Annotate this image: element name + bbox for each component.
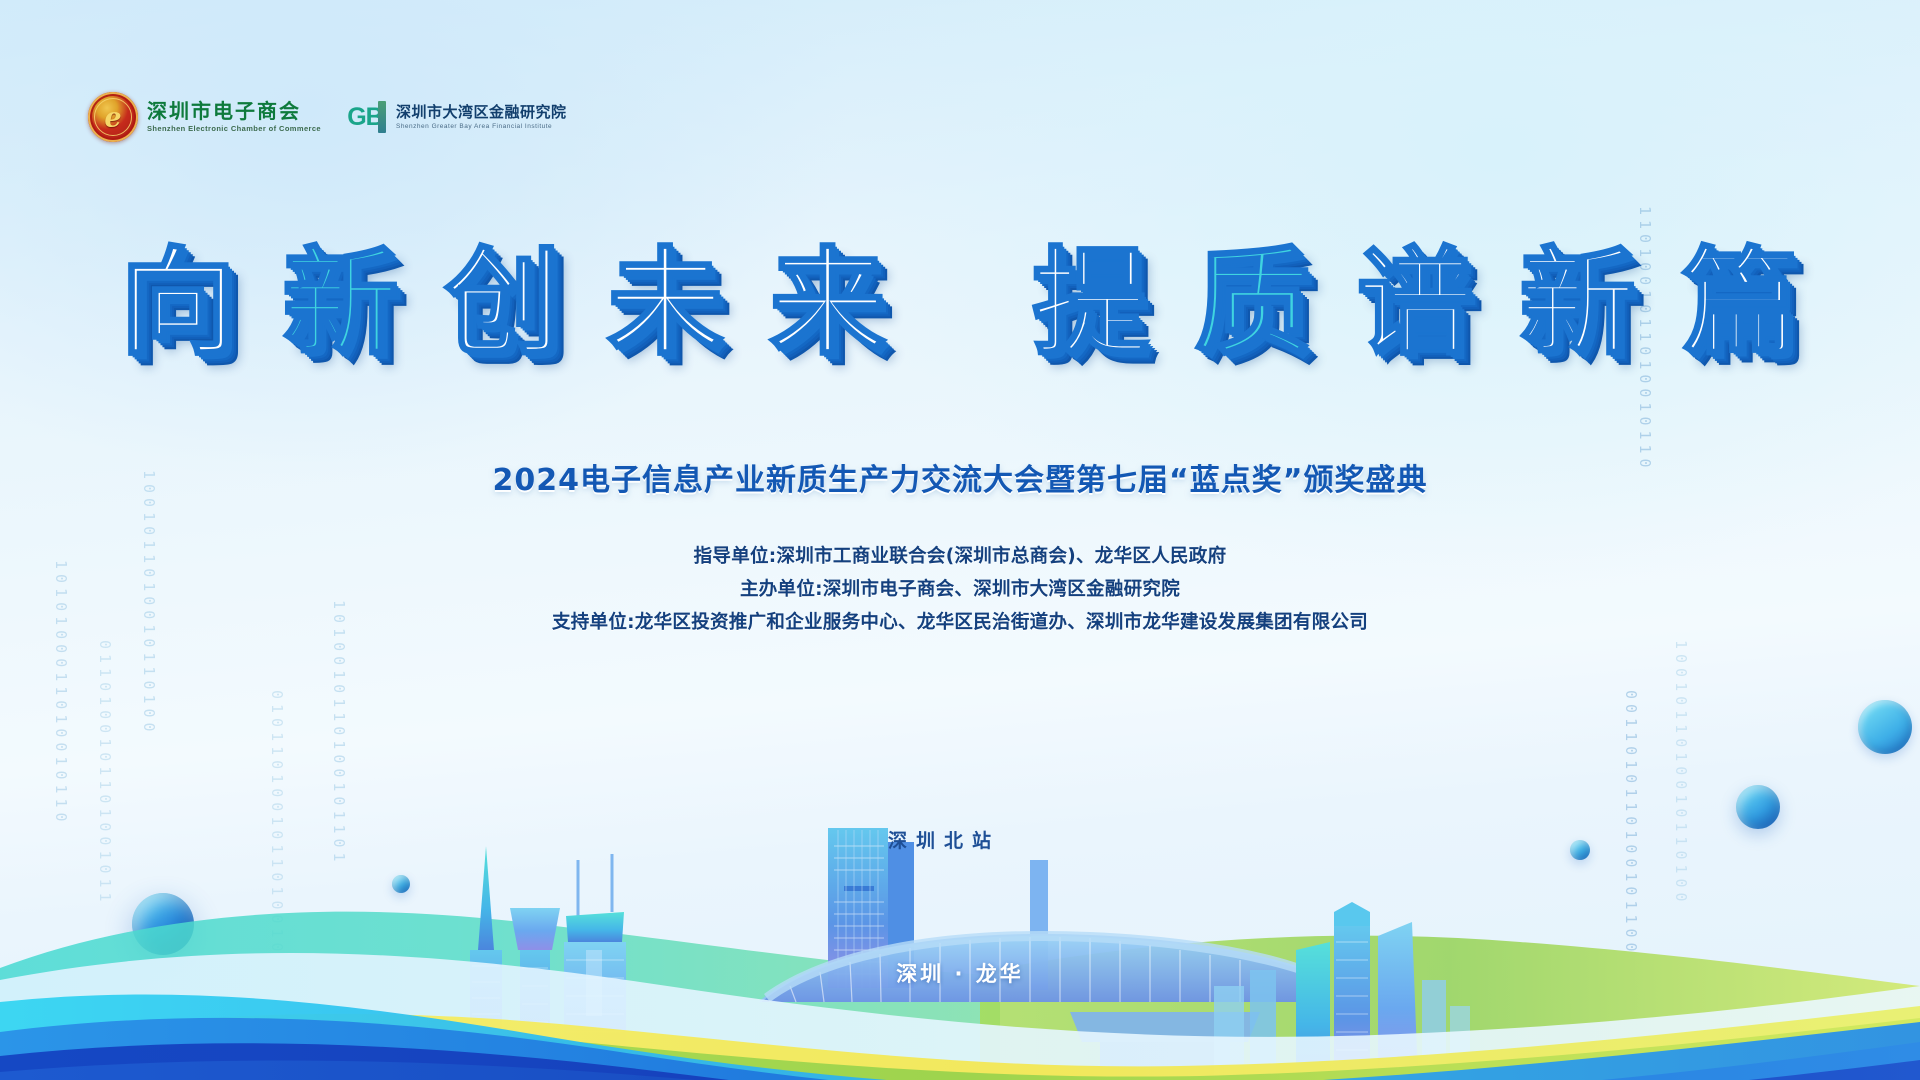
chamber-seal-icon: e [88,92,138,142]
headline-char: 向 [120,246,238,362]
headline-char: 篇 [1682,246,1800,362]
headline-char: 提 [1032,246,1150,362]
seal-letter: e [104,105,121,132]
logo-name-en: Shenzhen Electronic Chamber of Commerce [147,124,321,133]
headline-char: 谱 [1357,246,1475,362]
logo-shenzhen-electronic-chamber: e 深圳市电子商会 Shenzhen Electronic Chamber of… [88,92,321,142]
footer-city-label: 深圳 · 龙华 [0,958,1920,988]
organizer-block: 指导单位:深圳市工商业联合会(深圳市总商会)、龙华区人民政府 主办单位:深圳市电… [0,540,1920,639]
event-subtitle: 2024电子信息产业新质生产力交流大会暨第七届“蓝点奖”颁奖盛典 [0,455,1920,499]
headline-char: 创 [445,246,563,362]
headline-char: 未 [607,246,725,362]
organizer-line-guidance: 指导单位:深圳市工商业联合会(深圳市总商会)、龙华区人民政府 [0,540,1920,573]
headline: 向 新 创 未 来 提 质 谱 新 篇 [0,246,1920,362]
headline-char: 新 [282,246,400,362]
headline-char: 来 [770,246,888,362]
organizer-line-host: 主办单位:深圳市电子商会、深圳市大湾区金融研究院 [0,573,1920,606]
logo-name-cn: 深圳市电子商会 [147,101,321,122]
logo-name-cn: 深圳市大湾区金融研究院 [396,104,567,121]
logo-greater-bay-financial-institute: GB 深圳市大湾区金融研究院 Shenzhen Greater Bay Area… [343,100,567,134]
headline-char: 质 [1195,246,1313,362]
poster-canvas: 1010100011010010110 0110100101101001011 … [0,0,1920,1080]
headline-char: 新 [1520,246,1638,362]
organizer-line-support: 支持单位:龙华区投资推广和企业服务中心、龙华区民治街道办、深圳市龙华建设发展集团… [0,606,1920,639]
gbi-mark-icon: GB [343,100,387,134]
landmark-label-shenzhen-north-station: 深圳北站 [888,826,1000,853]
gbi-mark-bar [378,101,386,133]
logo-name-en: Shenzhen Greater Bay Area Financial Inst… [396,123,567,130]
city-skyline-scene [0,650,1920,1080]
logo-bar: e 深圳市电子商会 Shenzhen Electronic Chamber of… [88,92,567,142]
